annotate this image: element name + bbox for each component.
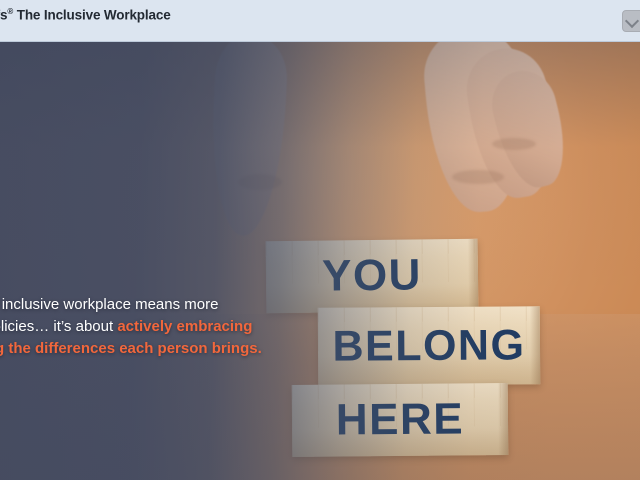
caption-line-1: ng an inclusive workplace means more xyxy=(0,294,380,316)
hero-caption: ng an inclusive workplace means more ust… xyxy=(0,294,380,360)
chevron-left-icon xyxy=(625,14,639,28)
page-subtitle: ion xyxy=(0,25,530,40)
page-title-rest: The Inclusive Workplace xyxy=(13,8,170,23)
block-word: YOU xyxy=(322,253,422,298)
page-title: Briefs® The Inclusive Workplace xyxy=(0,4,530,24)
header-action-button[interactable] xyxy=(622,10,640,32)
hand-thumb xyxy=(207,42,289,238)
caption-line-2-text: ust policies… it’s about xyxy=(0,318,117,335)
header-bar: Briefs® The Inclusive Workplace ion xyxy=(0,0,640,42)
block-word: HERE xyxy=(336,397,465,442)
wooden-block-here: HERE xyxy=(292,383,509,457)
caption-line-2-accent: actively embracing xyxy=(117,318,252,335)
page-viewport: Briefs® The Inclusive Workplace ion YOU … xyxy=(0,0,640,480)
hand-crease xyxy=(452,170,504,184)
hero-image: YOU BELONG HERE ng an inclusive workplac… xyxy=(0,42,640,480)
caption-line-1-text: ng an inclusive workplace means more xyxy=(0,296,218,313)
caption-line-2: ust policies… it’s about actively embrac… xyxy=(0,316,380,338)
hand-crease xyxy=(238,174,282,190)
hand-crease xyxy=(492,138,536,150)
caption-line-3-text: aluing the differences each person bring… xyxy=(0,340,262,357)
header-text-block: Briefs® The Inclusive Workplace ion xyxy=(0,4,530,40)
caption-line-3: aluing the differences each person bring… xyxy=(0,338,380,360)
